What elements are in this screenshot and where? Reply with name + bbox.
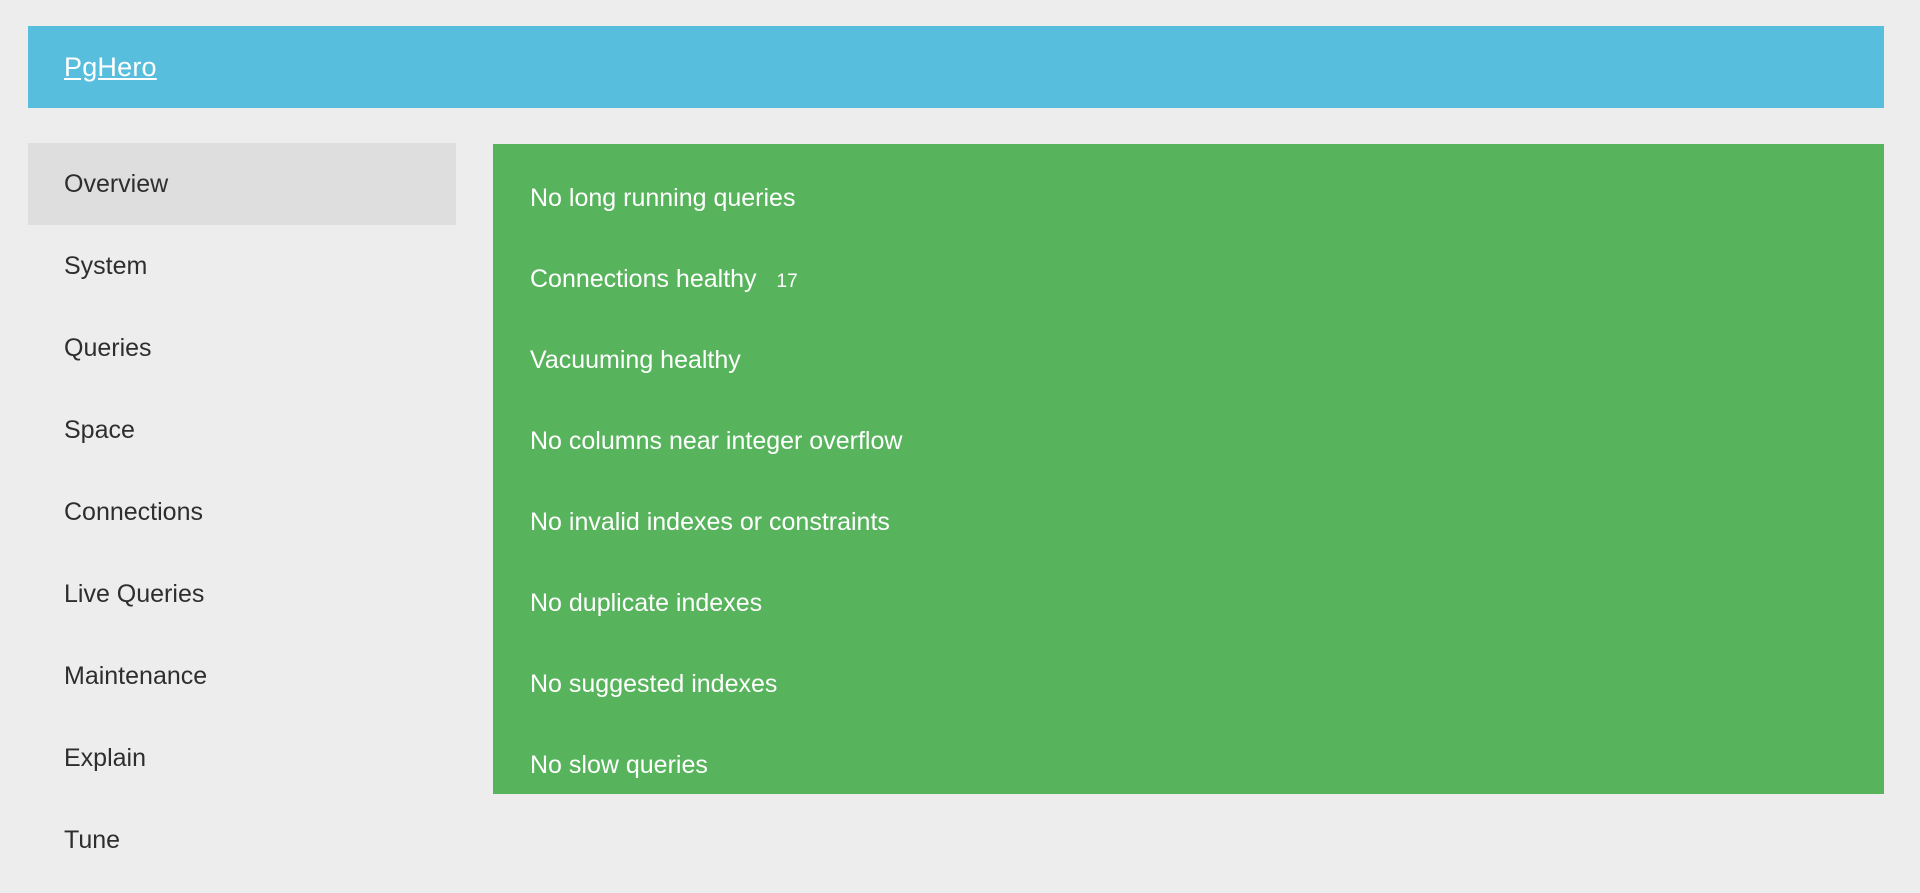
status-item-label: No invalid indexes or constraints	[530, 482, 890, 563]
sidebar-item-tune[interactable]: Tune	[28, 799, 456, 881]
status-item[interactable]: No suggested indexes	[493, 644, 1884, 725]
status-item-label: No duplicate indexes	[530, 563, 762, 644]
status-item-label: No long running queries	[530, 158, 795, 239]
app-header: PgHero	[28, 26, 1884, 108]
status-item[interactable]: No slow queries	[493, 725, 1884, 794]
sidebar-nav: OverviewSystemQueriesSpaceConnectionsLiv…	[28, 143, 456, 881]
sidebar-item-queries[interactable]: Queries	[28, 307, 456, 389]
status-item[interactable]: No invalid indexes or constraints	[493, 482, 1884, 563]
brand-logo-pghero[interactable]: PgHero	[28, 54, 157, 81]
status-badge: 17	[777, 241, 798, 322]
status-panel: No long running queriesConnections healt…	[493, 144, 1884, 794]
status-item-label: Vacuuming healthy	[530, 320, 741, 401]
status-item-label: Connections healthy	[530, 239, 757, 320]
status-item-label: No columns near integer overflow	[530, 401, 902, 482]
status-item-label: No slow queries	[530, 725, 708, 794]
status-item[interactable]: Connections healthy17	[493, 239, 1884, 320]
status-item[interactable]: No columns near integer overflow	[493, 401, 1884, 482]
sidebar-item-space[interactable]: Space	[28, 389, 456, 471]
sidebar-item-explain[interactable]: Explain	[28, 717, 456, 799]
status-item[interactable]: Vacuuming healthy	[493, 320, 1884, 401]
sidebar-item-overview[interactable]: Overview	[28, 143, 456, 225]
pghero-page: PgHero OverviewSystemQueriesSpaceConnect…	[0, 0, 1920, 893]
sidebar-item-connections[interactable]: Connections	[28, 471, 456, 553]
status-item[interactable]: No long running queries	[493, 158, 1884, 239]
sidebar-item-live-queries[interactable]: Live Queries	[28, 553, 456, 635]
status-item-label: No suggested indexes	[530, 644, 777, 725]
status-item[interactable]: No duplicate indexes	[493, 563, 1884, 644]
sidebar-item-maintenance[interactable]: Maintenance	[28, 635, 456, 717]
sidebar-item-system[interactable]: System	[28, 225, 456, 307]
